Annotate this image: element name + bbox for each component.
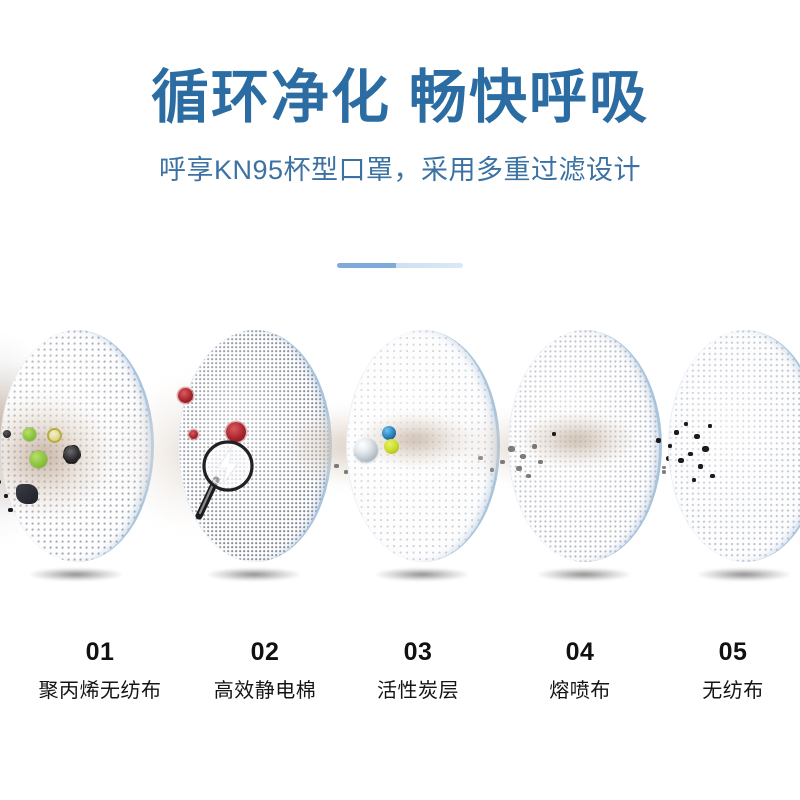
- disc-shadow: [698, 568, 790, 581]
- page-subtitle: 呼享KN95杯型口罩，采用多重过滤设计: [0, 131, 800, 188]
- section-divider: [337, 263, 463, 268]
- filter-disc-01: [0, 330, 154, 562]
- filter-disc-02: [178, 330, 332, 562]
- divider-wrapper: [0, 263, 800, 268]
- caption-number: 05: [640, 640, 800, 665]
- caption-label: 无纺布: [640, 681, 800, 701]
- filter-layer-03: [328, 318, 514, 618]
- disc-shadow: [30, 568, 122, 581]
- filter-layer-05: [650, 318, 800, 618]
- dust-speck-icon: [500, 460, 505, 464]
- filter-layer-04: [490, 318, 676, 618]
- product-infographic-page: 循环净化 畅快呼吸 呼享KN95杯型口罩，采用多重过滤设计: [0, 0, 800, 800]
- disc-shadow: [538, 568, 630, 581]
- filter-layer-02: [160, 318, 346, 618]
- layer-captions: 01 聚丙烯无纺布 02 高效静电棉 03 活性炭层 04 熔喷布 05 无纺布: [0, 640, 800, 750]
- filter-disc-05: [668, 330, 800, 562]
- caption-05: 05 无纺布: [640, 640, 800, 701]
- caption-03: 03 活性炭层: [325, 640, 511, 701]
- caption-01: 01 聚丙烯无纺布: [7, 640, 193, 701]
- caption-number: 03: [325, 640, 511, 665]
- grit-speck-icon: [0, 480, 1, 484]
- grit-speck-icon: [334, 464, 339, 468]
- disc-shadow: [208, 568, 300, 581]
- caption-number: 01: [7, 640, 193, 665]
- filter-layers-illustration: [0, 318, 800, 618]
- caption-label: 聚丙烯无纺布: [7, 681, 193, 701]
- header: 循环净化 畅快呼吸 呼享KN95杯型口罩，采用多重过滤设计: [0, 0, 800, 188]
- filter-disc-03: [346, 330, 500, 562]
- filter-disc-04: [508, 330, 662, 562]
- caption-label: 活性炭层: [325, 681, 511, 701]
- page-title: 循环净化 畅快呼吸: [0, 0, 800, 131]
- filter-layer-01: [0, 318, 168, 618]
- fine-speck-icon: [662, 466, 666, 469]
- disc-shadow: [376, 568, 468, 581]
